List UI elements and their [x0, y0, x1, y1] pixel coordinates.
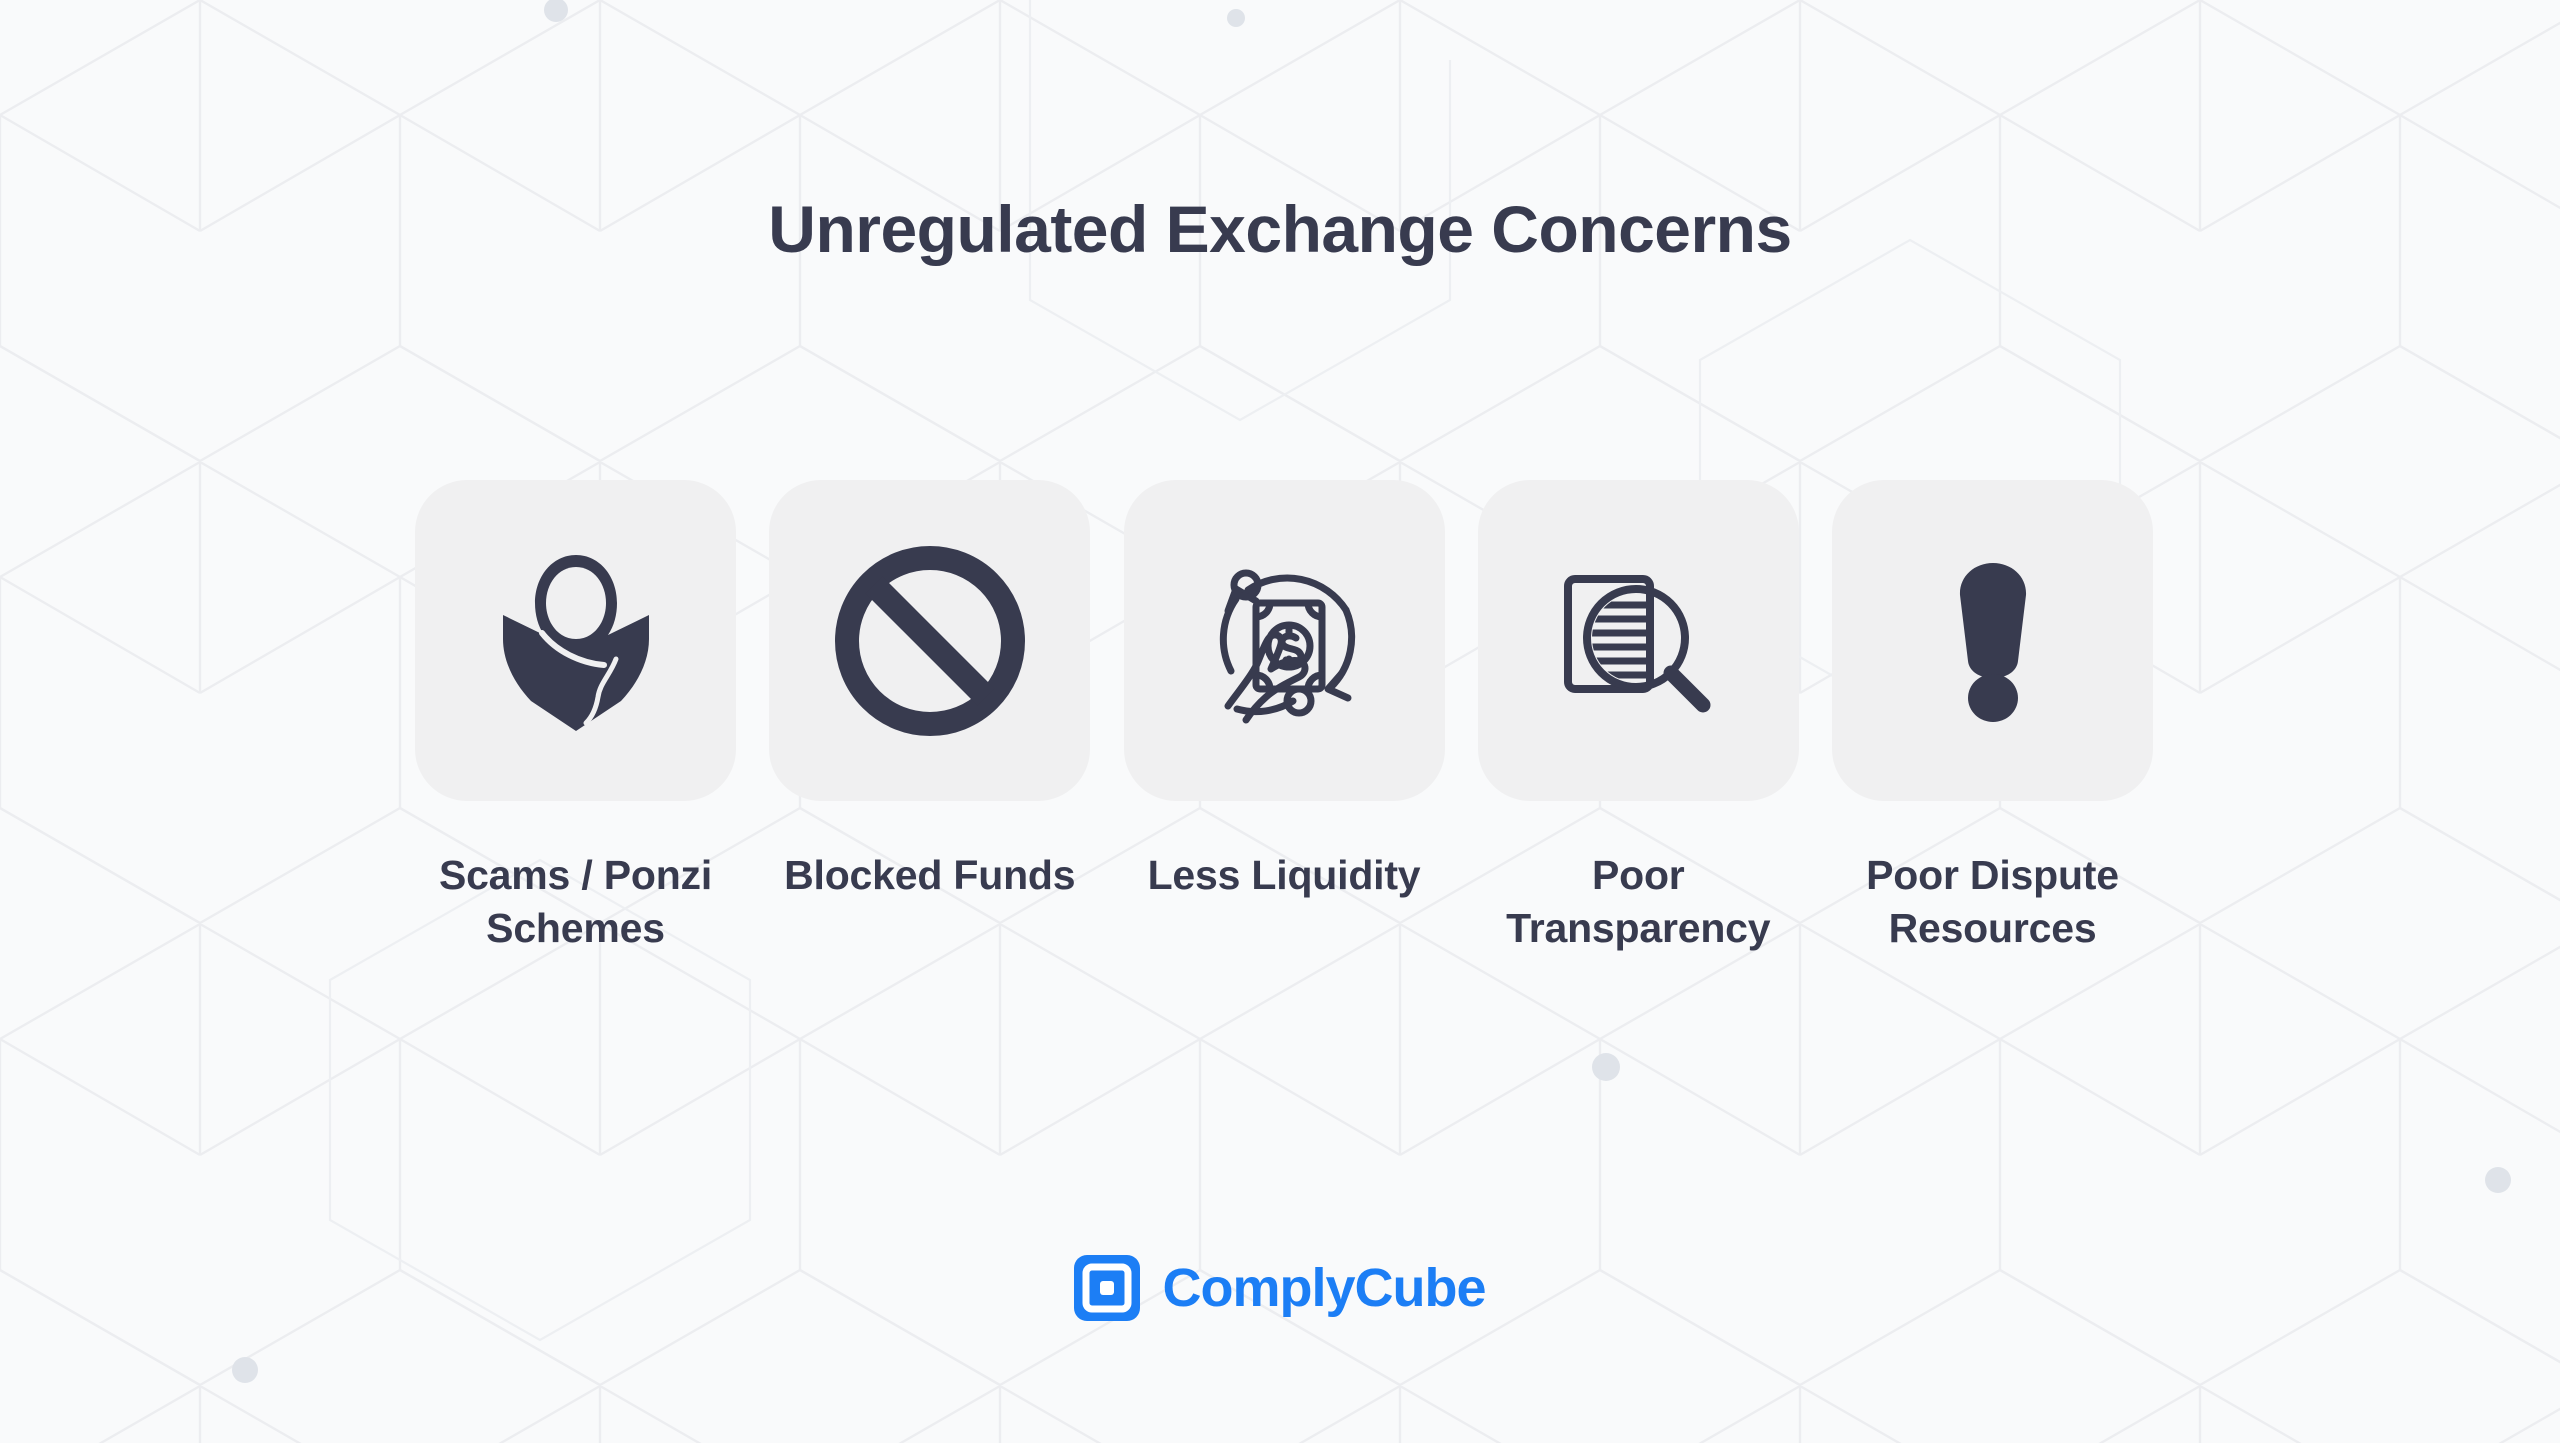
- mask-face-opening: [546, 567, 606, 639]
- concern-label-blocked-funds: Blocked Funds: [765, 849, 1095, 902]
- icon-card-poor-transparency: [1478, 480, 1799, 801]
- document-magnifier-icon: [1538, 541, 1738, 741]
- prohibition-sign-icon: [830, 541, 1030, 741]
- complycube-logo-mark: [1074, 1255, 1140, 1321]
- concern-label-poor-dispute-resources: Poor Dispute Resources: [1828, 849, 2158, 955]
- concern-item-scams-ponzi: Scams / Ponzi Schemes: [415, 480, 736, 955]
- icon-card-scams-ponzi: [415, 480, 736, 801]
- brand-name: ComplyCube: [1162, 1261, 1485, 1315]
- concern-item-blocked-funds: Blocked Funds: [769, 480, 1090, 902]
- brand-footer: ComplyCube: [0, 1255, 2560, 1321]
- concern-label-scams-ponzi: Scams / Ponzi Schemes: [411, 849, 741, 955]
- concern-label-less-liquidity: Less Liquidity: [1119, 849, 1449, 902]
- concern-item-poor-transparency: Poor Transparency: [1478, 480, 1799, 955]
- page-title: Unregulated Exchange Concerns: [0, 193, 2560, 267]
- infographic-canvas: Unregulated Exchange Concerns Scams / Po…: [0, 0, 2560, 1443]
- icon-card-poor-dispute-resources: [1832, 480, 2153, 801]
- bandana-mask-icon: [476, 541, 676, 741]
- icon-card-blocked-funds: [769, 480, 1090, 801]
- concern-item-poor-dispute-resources: Poor Dispute Resources: [1832, 480, 2153, 955]
- icon-card-less-liquidity: [1124, 480, 1445, 801]
- money-circulation-icon: [1184, 541, 1384, 741]
- concern-label-poor-transparency: Poor Transparency: [1473, 849, 1803, 955]
- concerns-row: Scams / Ponzi Schemes Blocked Funds: [415, 480, 2153, 955]
- concern-item-less-liquidity: Less Liquidity: [1124, 480, 1445, 902]
- exclamation-mark-icon: [1893, 541, 2093, 741]
